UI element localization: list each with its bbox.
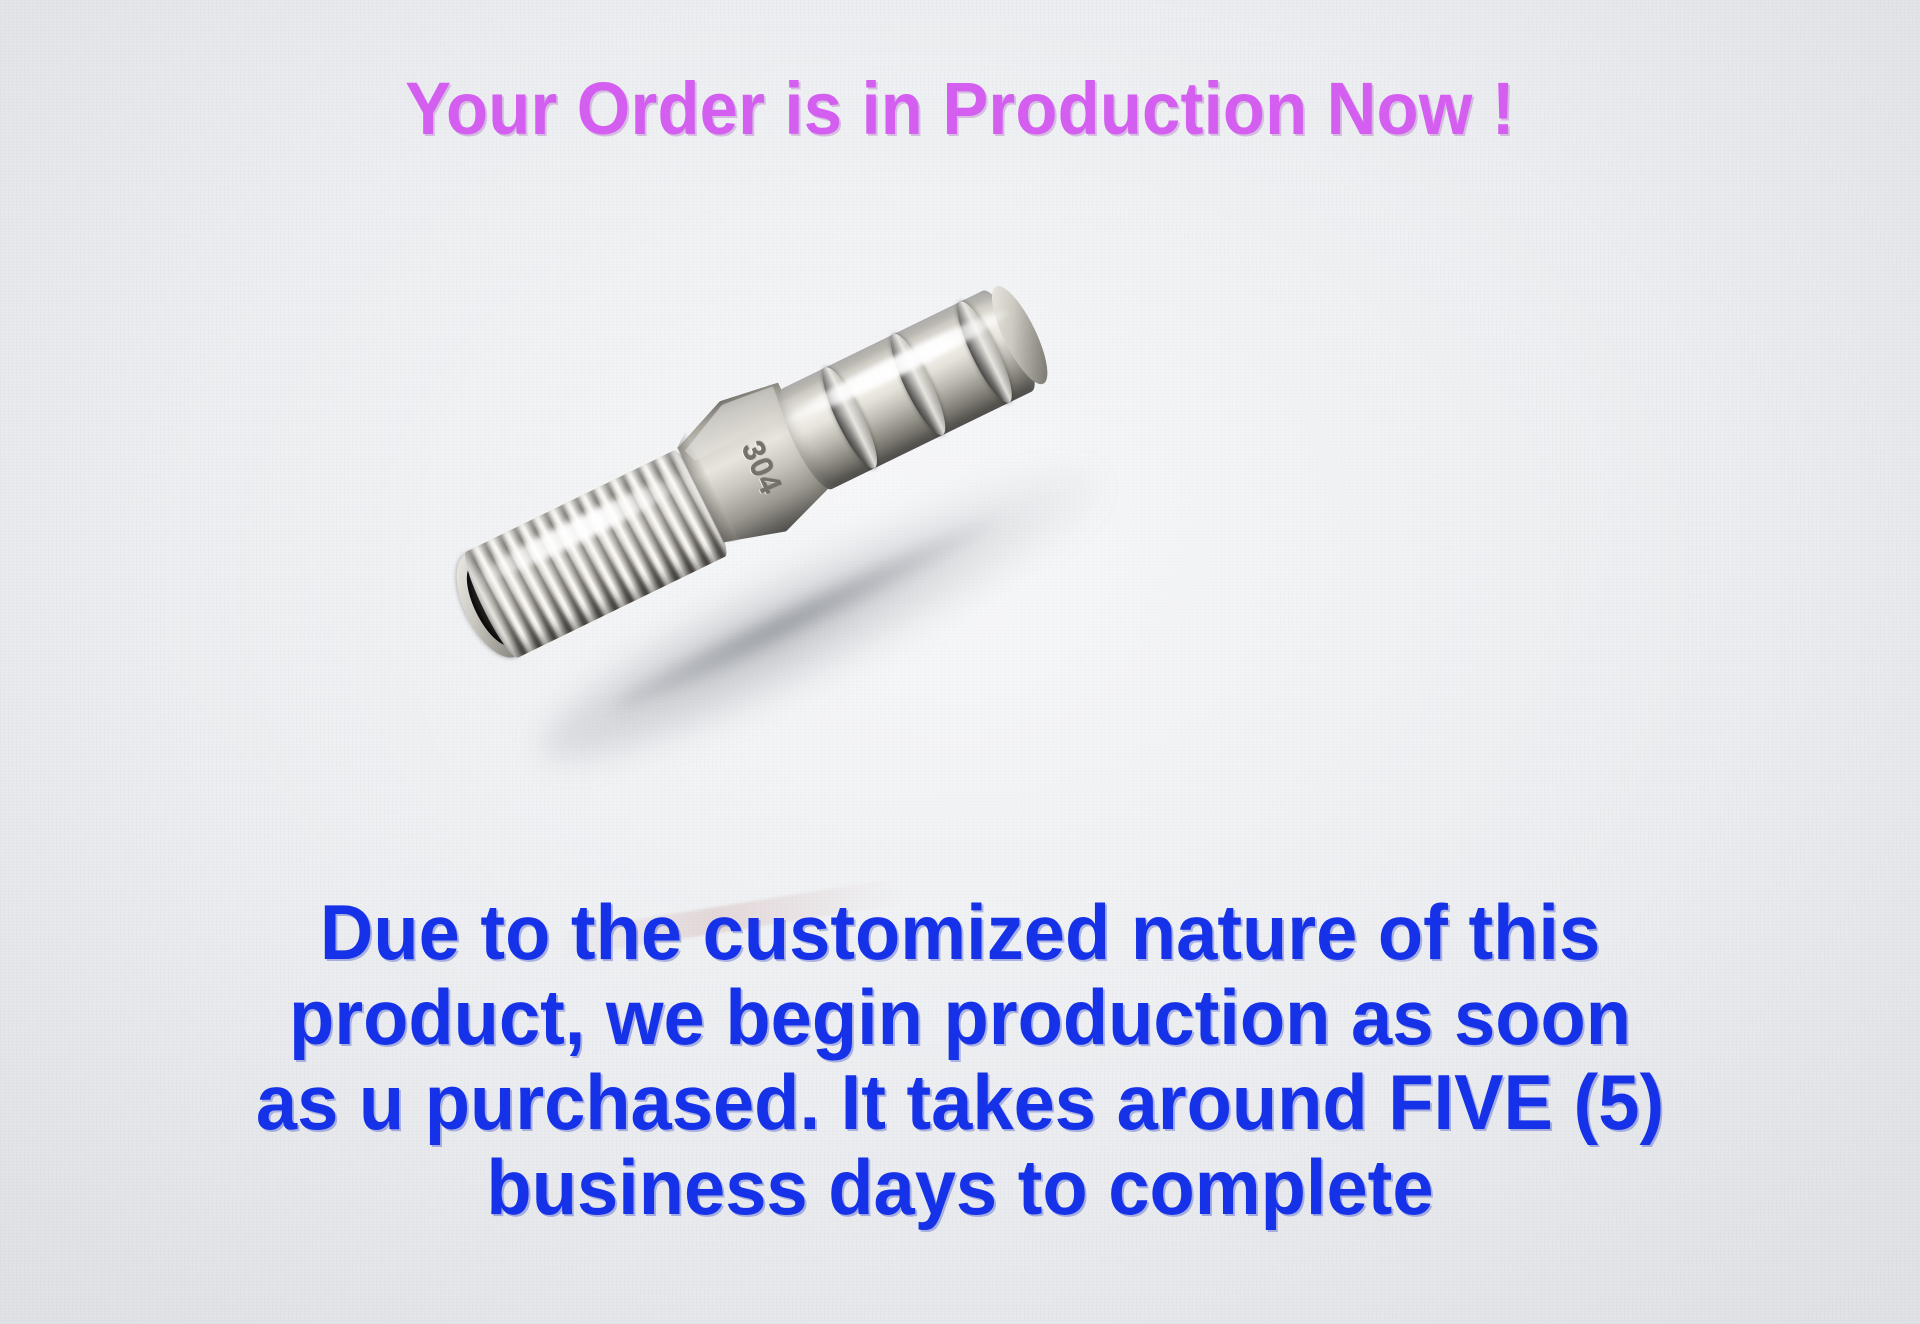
production-notice: Due to the customized nature of this pro… — [48, 890, 1872, 1230]
notice-line-4: business days to complete — [48, 1145, 1872, 1230]
product-photo: 304 — [470, 305, 1190, 755]
notice-line-1: Due to the customized nature of this — [48, 890, 1872, 975]
notice-line-2: product, we begin production as soon — [48, 975, 1872, 1060]
promo-banner: Your Order is in Production Now ! 304 Du… — [0, 0, 1920, 1324]
notice-line-3: as u purchased. It takes around FIVE (5) — [48, 1060, 1872, 1145]
